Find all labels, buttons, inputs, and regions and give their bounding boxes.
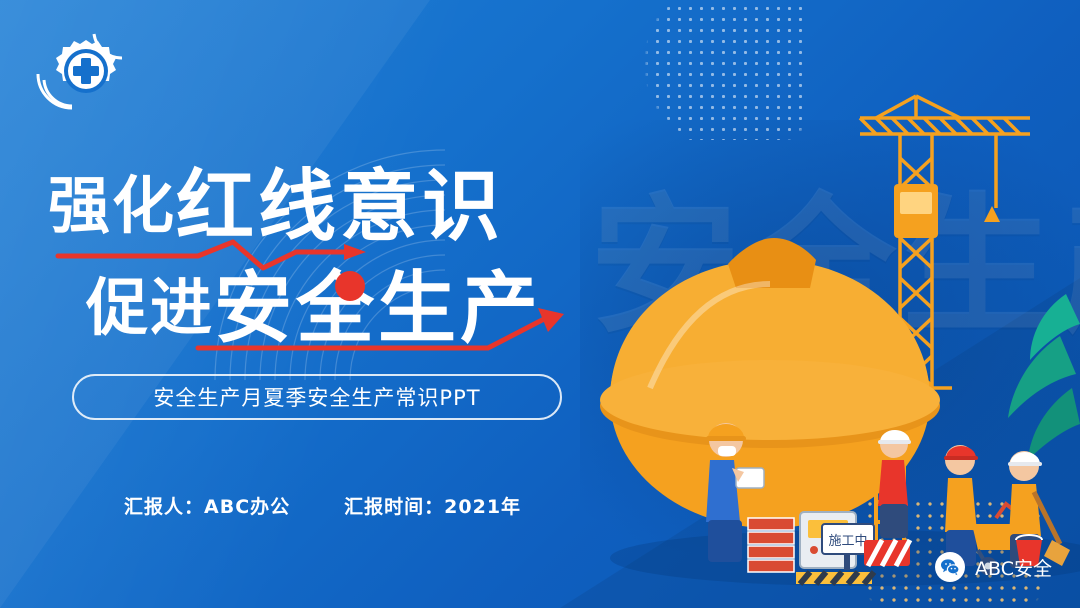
- headline-line-1-prefix: 强化: [48, 169, 176, 242]
- presenter-value: ABC办公: [204, 496, 290, 518]
- construction-site-illustration: 施工中: [560, 88, 1080, 608]
- presenter-label: 汇报人：: [124, 496, 204, 518]
- headline-line-1-emphasis: 红线意识: [176, 162, 504, 252]
- headline-line-2-prefix: 促进: [86, 271, 214, 344]
- subtitle-text: 安全生产月夏季安全生产常识PPT: [153, 382, 480, 412]
- headline-block: 强化红线意识 促进安全生产: [48, 168, 648, 348]
- wechat-icon: [935, 552, 965, 582]
- presentation-slide: 安全生产 强化红线意识 促进安全生产: [0, 0, 1080, 608]
- brand-watermark-text: ABC安全: [975, 554, 1052, 581]
- hazard-strip-icon: [796, 572, 874, 584]
- date-label: 汇报时间：: [344, 496, 444, 518]
- safety-cross-gear-logo: [26, 28, 146, 116]
- headline-line-2-emphasis: 安全生产: [214, 264, 542, 354]
- crane-hook: [984, 206, 1000, 222]
- subtitle-pill: 安全生产月夏季安全生产常识PPT: [72, 374, 562, 420]
- meta-line: 汇报人：ABC办公 汇报时间：2021年: [124, 492, 521, 519]
- headline-line-1: 强化红线意识: [48, 168, 648, 246]
- brand-watermark: ABC安全: [935, 552, 1052, 582]
- sign-text: 施工中: [828, 534, 867, 549]
- palm-leaf-icon: [1008, 294, 1080, 460]
- date-value: 2021年: [444, 496, 521, 518]
- presenter-field: 汇报人：ABC办公: [124, 492, 290, 519]
- date-field: 汇报时间：2021年: [344, 492, 521, 519]
- traffic-barrier-icon: [864, 540, 910, 566]
